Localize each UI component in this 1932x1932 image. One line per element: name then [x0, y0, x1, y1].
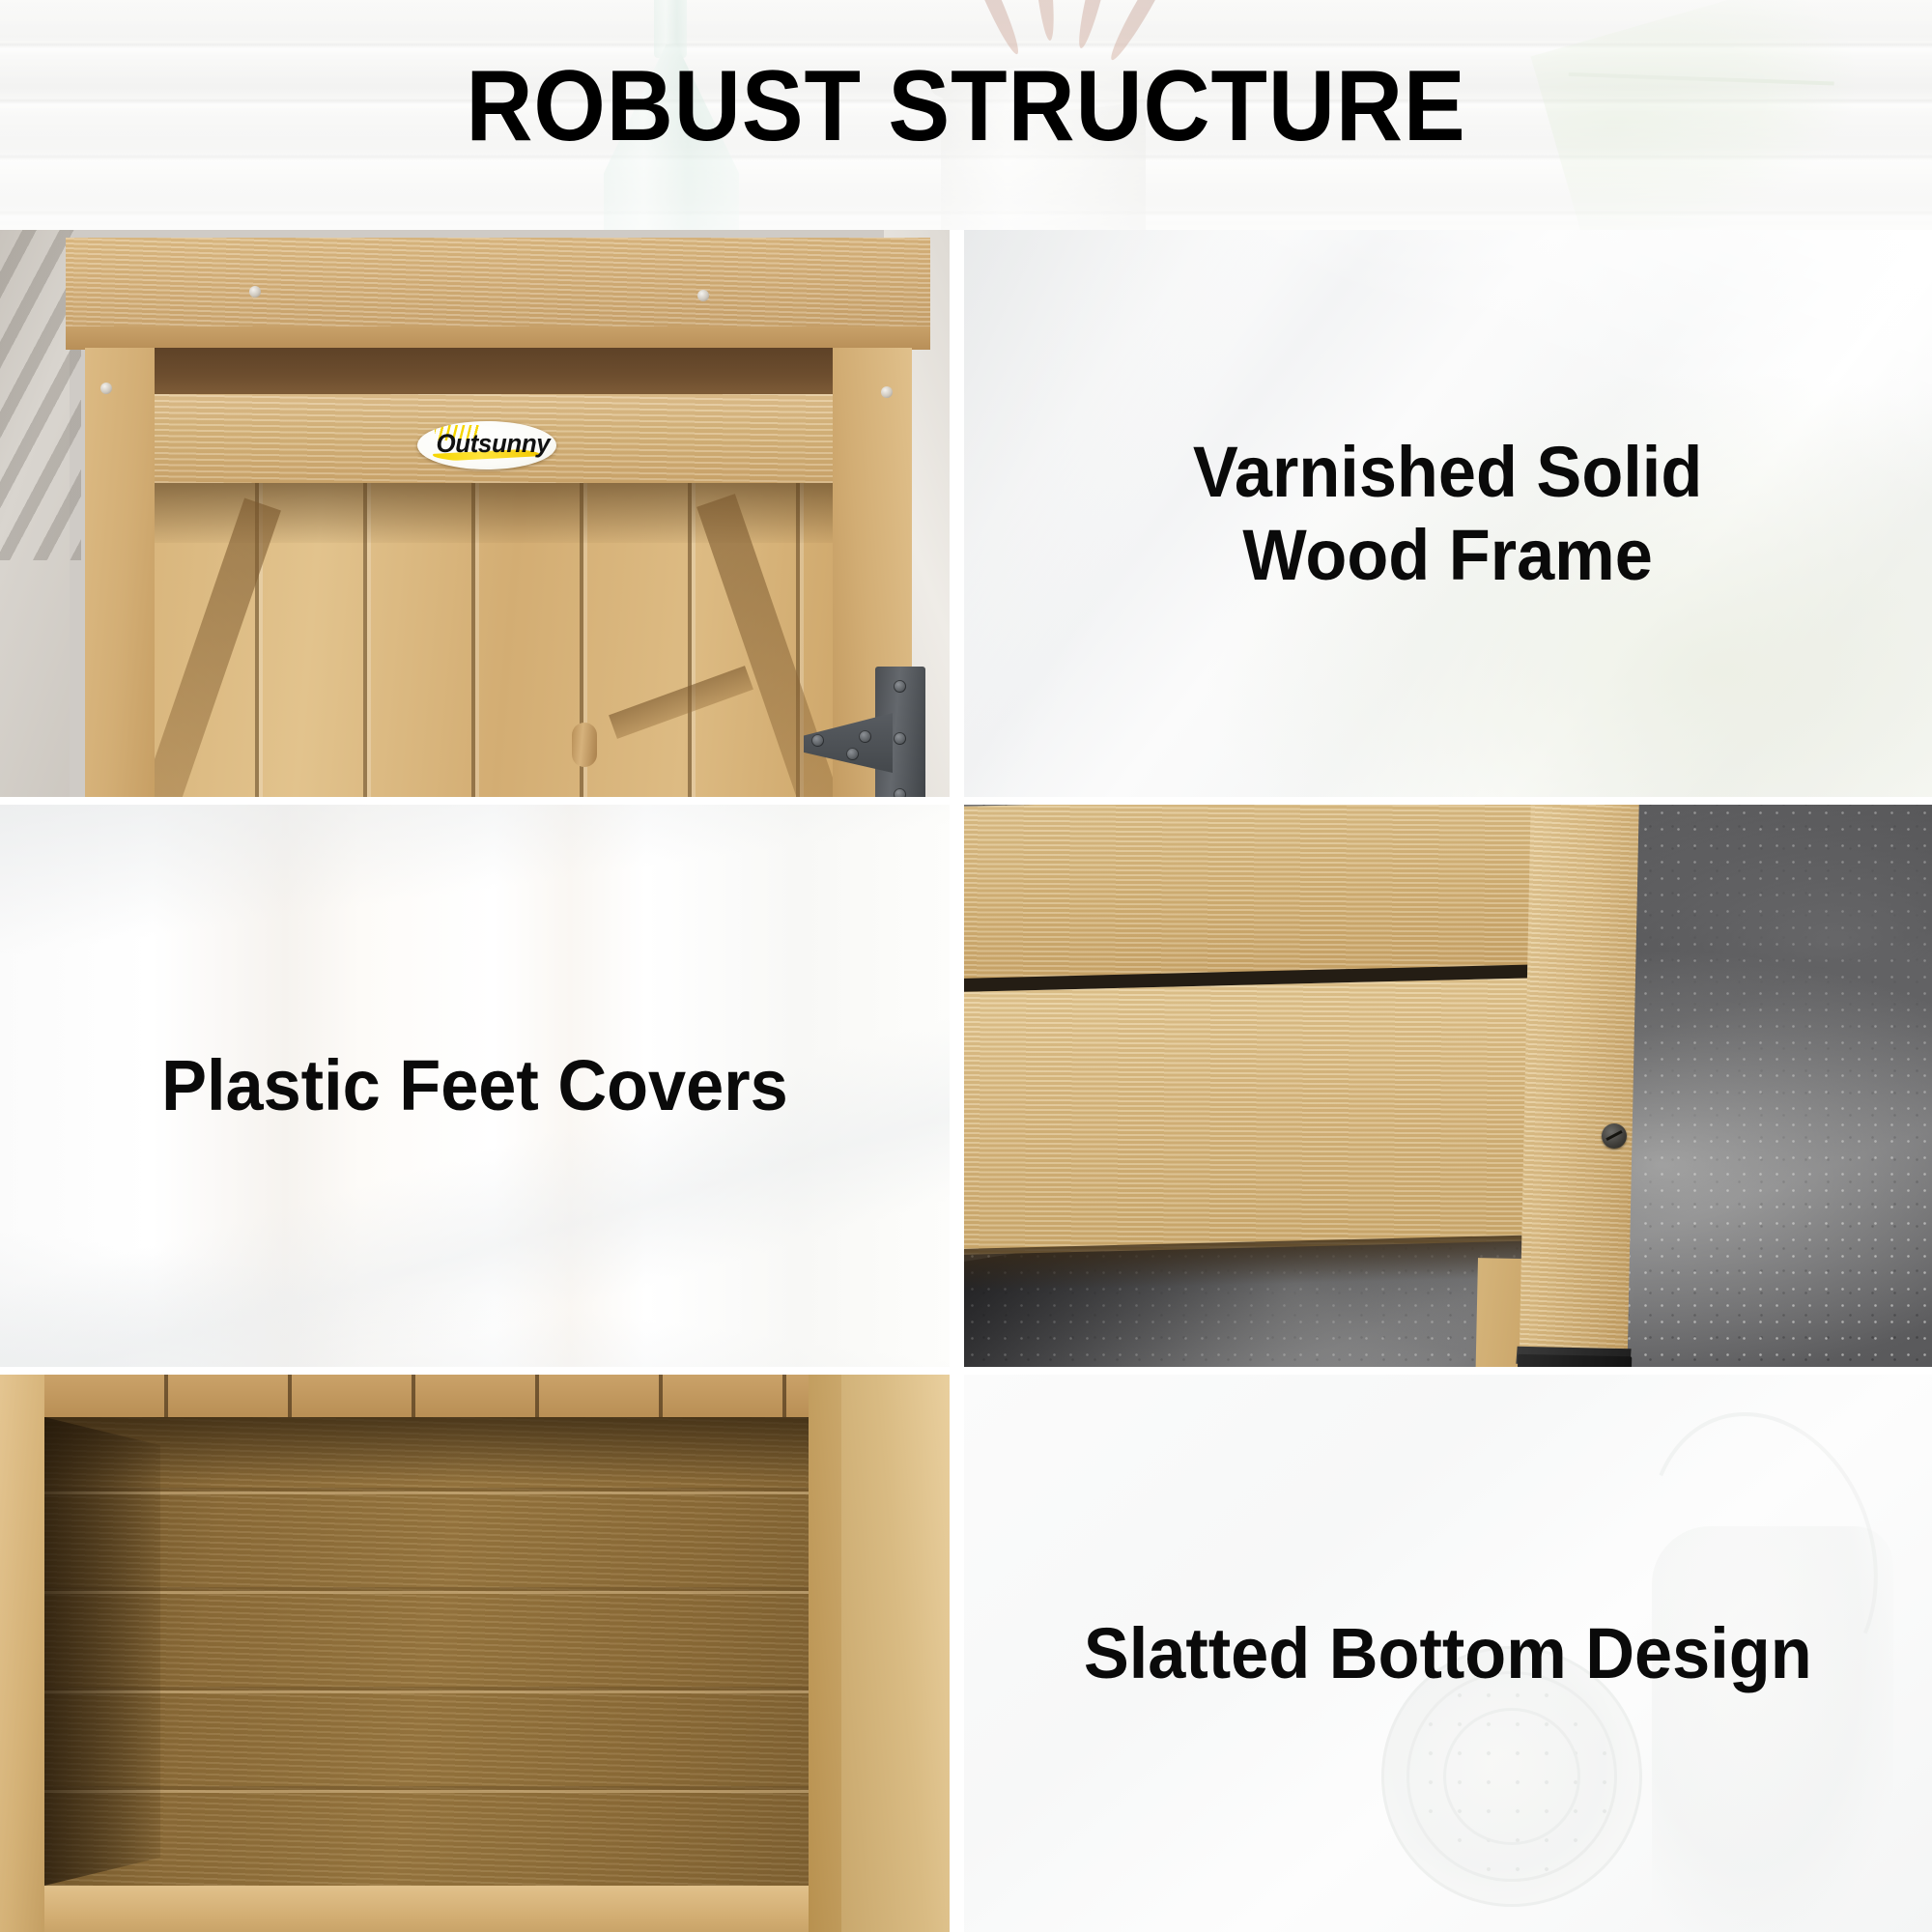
feature-caption: Plastic Feet Covers	[161, 1044, 788, 1127]
cabinet-dark-rail	[85, 348, 911, 394]
screw-head-icon	[1602, 1123, 1627, 1149]
panel-plastic-feet-covers: Plastic Feet Covers	[0, 805, 950, 1367]
feature-caption: Varnished Solid Wood Frame	[1193, 431, 1702, 597]
wall-left-with-leaf-shadow	[0, 230, 70, 797]
screw-head-icon	[881, 386, 893, 398]
cabinet-frame-left-post	[0, 1375, 44, 1932]
cabinet-frame-left-post	[85, 348, 155, 797]
t-hinge-icon	[804, 667, 925, 797]
feature-caption: Slatted Bottom Design	[1084, 1612, 1812, 1695]
cabinet-top-cap	[66, 238, 930, 327]
cabinet-inner-right-edge	[809, 1375, 841, 1932]
grid-gutter-vertical	[950, 230, 964, 1932]
poster-header: ROBUST STRUCTURE	[0, 0, 1932, 230]
cabinet-frame-right-post	[841, 1375, 950, 1932]
infographic-poster: ROBUST STRUCTURE	[0, 0, 1932, 1932]
grid-gutter-horizontal	[0, 1367, 1932, 1375]
panel-shed-door-photo: Outsunny	[0, 230, 950, 797]
back-wall-slats	[44, 1375, 854, 1417]
page-title: ROBUST STRUCTURE	[77, 56, 1855, 156]
screw-head-icon	[249, 286, 261, 298]
screw-head-icon	[100, 383, 112, 394]
cabinet-bottom-rail	[964, 977, 1595, 1255]
panel-slatted-bottom-design: Slatted Bottom Design	[964, 1375, 1932, 1932]
screw-head-icon	[697, 290, 709, 301]
feature-caption-line-1: Slatted Bottom Design	[1084, 1612, 1812, 1695]
grid-gutter-horizontal	[0, 797, 1932, 805]
brand-name-label: Outsunny	[436, 429, 550, 459]
feature-caption-line-1: Varnished Solid	[1193, 431, 1702, 514]
cabinet-corner-leg	[1518, 805, 1639, 1367]
feature-caption-line-2: Wood Frame	[1193, 514, 1702, 597]
feature-caption-line-1: Plastic Feet Covers	[161, 1044, 788, 1127]
panel-foot-cover-photo	[964, 805, 1932, 1367]
cabinet-lower-panel	[964, 805, 1594, 990]
panel-slatted-bottom-photo	[0, 1375, 950, 1932]
plastic-foot-cover	[1516, 1354, 1633, 1367]
door-handle[interactable]	[572, 723, 597, 767]
outsunny-brand-badge: Outsunny	[417, 421, 556, 469]
feature-panel-grid: Outsunny Varnished Solid Wood Frame	[0, 230, 1932, 1932]
slatted-bottom-boards	[44, 1417, 854, 1886]
cabinet-front-lip	[44, 1886, 854, 1932]
door-panel	[155, 483, 833, 797]
cabinet-top-cap-edge	[66, 327, 930, 350]
panel-varnished-solid-wood-frame: Varnished Solid Wood Frame	[964, 230, 1932, 797]
